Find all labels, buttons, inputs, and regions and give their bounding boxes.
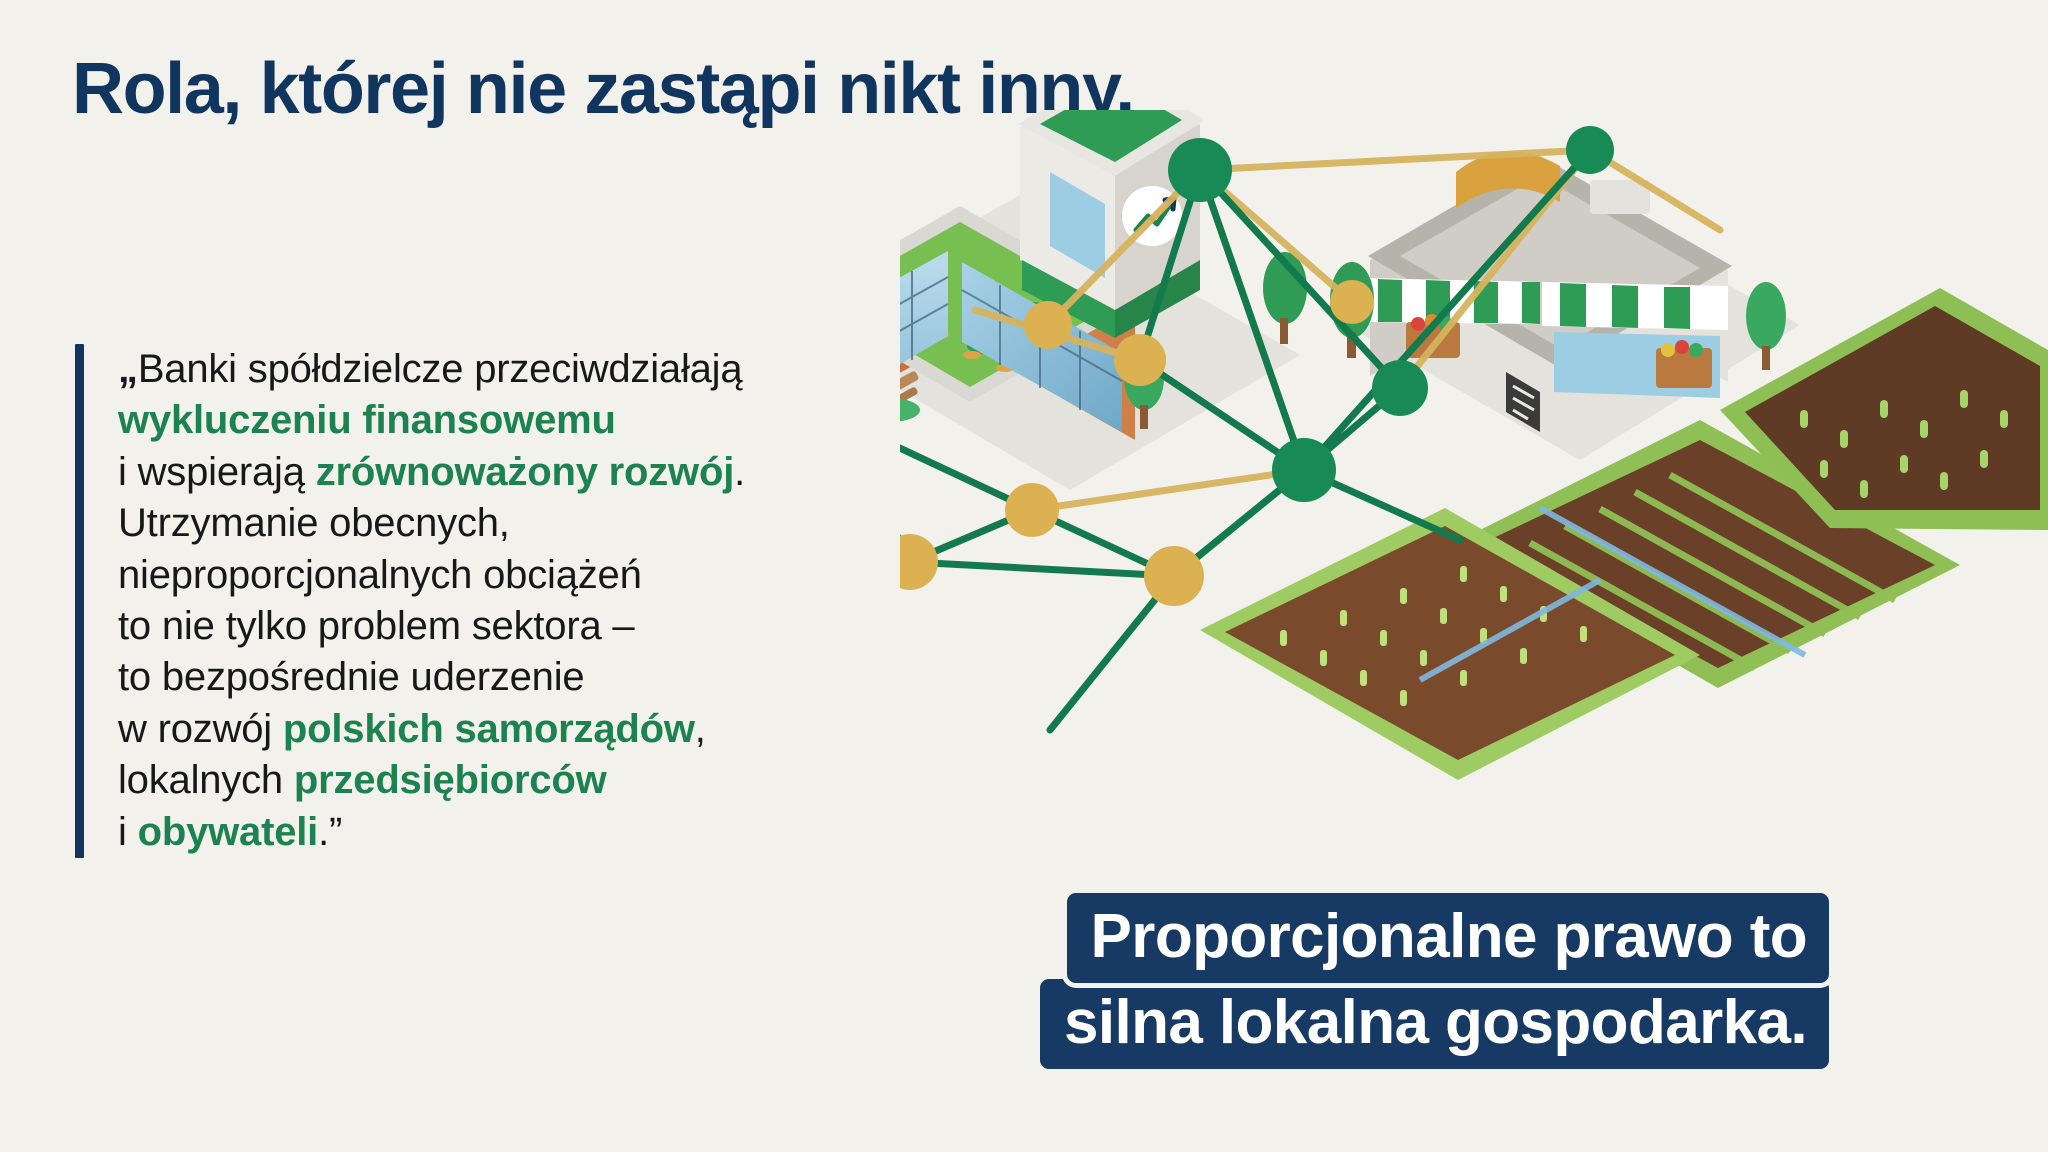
quote-text: „Banki spółdzielcze przeciwdziałająwyklu… xyxy=(118,344,745,858)
quote-line-9: lokalnych przedsiębiorców xyxy=(118,755,745,806)
quote-segment: Utrzymanie obecnych, xyxy=(118,501,510,545)
quote-line-4: Utrzymanie obecnych, xyxy=(118,498,745,549)
quote-segment: i xyxy=(118,810,138,854)
bottom-banner: Proporcjonalne prawo to silna lokalna go… xyxy=(1040,893,1829,1069)
quote-highlight: polskich samorządów xyxy=(283,707,695,751)
quote-segment: nieproporcjonalnych obciążeń xyxy=(118,553,642,597)
slide-canvas: Rola, której nie zastąpi nikt inny. „Ban… xyxy=(0,0,2048,1152)
quote-highlight: zrównoważony rozwój xyxy=(316,450,734,494)
quote-segment: w rozwój xyxy=(118,707,283,751)
quote-highlight: wykluczeniu finansowemu xyxy=(118,398,616,442)
banner-line-1: Proporcjonalne prawo to xyxy=(1067,893,1830,983)
quote-block: „Banki spółdzielcze przeciwdziałająwyklu… xyxy=(75,344,745,858)
quote-line-8: w rozwój polskich samorządów, xyxy=(118,704,745,755)
quote-segment: Banki spółdzielcze przeciwdziałają xyxy=(138,347,743,391)
quote-open-mark: „ xyxy=(118,347,138,391)
quote-line-1: „Banki spółdzielcze przeciwdziałają xyxy=(118,344,745,395)
quote-highlight: obywateli xyxy=(138,810,318,854)
quote-segment: lokalnych xyxy=(118,758,294,802)
quote-line-6: to nie tylko problem sektora – xyxy=(118,601,745,652)
banner-line-2: silna lokalna gospodarka. xyxy=(1040,979,1829,1069)
illustration-isometric-local-economy xyxy=(900,110,2048,900)
quote-segment: .” xyxy=(318,810,342,854)
quote-segment: , xyxy=(695,707,706,751)
quote-segment: . xyxy=(734,450,745,494)
quote-accent-rule xyxy=(75,344,84,858)
quote-segment: i wspierają xyxy=(118,450,316,494)
quote-line-7: to bezpośrednie uderzenie xyxy=(118,652,745,703)
quote-line-2: wykluczeniu finansowemu xyxy=(118,395,745,446)
quote-segment: to nie tylko problem sektora – xyxy=(118,604,634,648)
quote-segment: to bezpośrednie uderzenie xyxy=(118,655,584,699)
awning-right xyxy=(1542,282,1728,330)
quote-line-3: i wspierają zrównoważony rozwój. xyxy=(118,447,745,498)
quote-line-10: i obywateli.” xyxy=(118,807,745,858)
quote-line-5: nieproporcjonalnych obciążeń xyxy=(118,550,745,601)
quote-highlight: przedsiębiorców xyxy=(294,758,607,802)
